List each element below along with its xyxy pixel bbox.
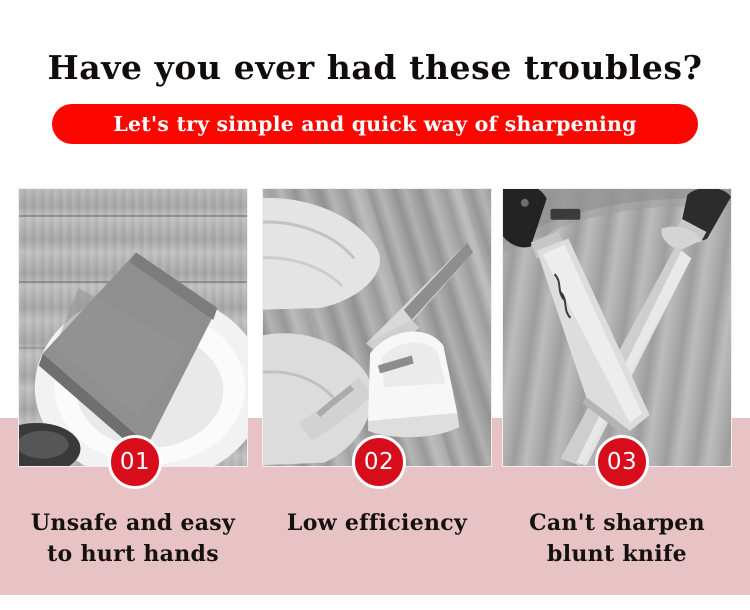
step-badge-3-label: 03	[607, 451, 637, 474]
caption-2: Low efficiency	[252, 508, 502, 539]
caption-2-line-1: Low efficiency	[252, 508, 502, 539]
subtitle-banner: Let's try simple and quick way of sharpe…	[52, 104, 698, 144]
caption-1-line-2: to hurt hands	[8, 539, 258, 570]
photo-panel-3	[502, 188, 732, 467]
caption-3-line-1: Can't sharpen	[492, 508, 742, 539]
photo-panel-2	[262, 188, 492, 467]
photo-panel-row	[0, 188, 750, 468]
caption-1-line-1: Unsafe and easy	[8, 508, 258, 539]
promo-banner-image: Have you ever had these troubles? Let's …	[0, 0, 750, 610]
page-title: Have you ever had these troubles?	[0, 48, 750, 87]
photo-3-knife-shape	[503, 189, 731, 466]
step-badge-2: 02	[352, 435, 406, 489]
caption-1: Unsafe and easy to hurt hands	[8, 508, 258, 570]
step-badge-2-label: 02	[364, 451, 394, 474]
photo-2-sharpener-shape	[263, 189, 491, 466]
step-badge-3: 03	[595, 435, 649, 489]
step-badge-1: 01	[108, 435, 162, 489]
caption-3-line-2: blunt knife	[492, 539, 742, 570]
caption-3: Can't sharpen blunt knife	[492, 508, 742, 570]
subtitle-banner-label: Let's try simple and quick way of sharpe…	[113, 112, 636, 136]
step-badge-1-label: 01	[120, 451, 150, 474]
photo-panel-1	[18, 188, 248, 467]
photo-1-thumb-shape	[19, 189, 247, 466]
